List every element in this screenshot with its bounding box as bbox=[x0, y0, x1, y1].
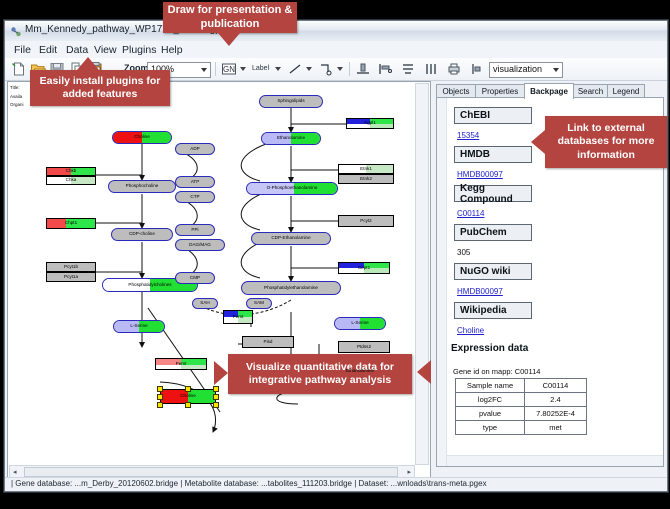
node-label: Ptdss2 bbox=[357, 345, 371, 350]
node-label: L-Serine bbox=[351, 321, 368, 326]
expression-table: Sample name C00114 log2FC 2.4 pvalue 7.8… bbox=[455, 378, 587, 435]
visualization-icon[interactable] bbox=[469, 61, 485, 77]
scroll-right-arrow-icon[interactable]: ▸ bbox=[407, 468, 411, 476]
table-row: Sample name C00114 bbox=[456, 379, 587, 393]
node-label: Chkb bbox=[66, 169, 77, 174]
node-label: SAH bbox=[200, 301, 209, 306]
node-ppi[interactable]: PPi bbox=[175, 224, 215, 236]
node-label: CDP-Ethanolamine bbox=[271, 236, 310, 241]
node-etnk1[interactable]: Etnk1 bbox=[338, 164, 394, 174]
selection-handle-ne[interactable] bbox=[213, 386, 219, 392]
callout-visualize-arrow-icon bbox=[214, 361, 228, 385]
node-phosphocholine[interactable]: Phosphocholine bbox=[108, 180, 176, 193]
cell-value: C00114 bbox=[525, 379, 587, 393]
node-label: Phosphocholine bbox=[126, 184, 159, 189]
node-adp[interactable]: ADP bbox=[175, 143, 215, 155]
cell-value: 2.4 bbox=[525, 393, 587, 407]
node-sam[interactable]: SAM bbox=[246, 298, 272, 309]
cell-key: Sample name bbox=[456, 379, 525, 393]
toolbar-separator bbox=[215, 62, 216, 76]
tab-properties[interactable]: Properties bbox=[475, 84, 525, 98]
backpage-horizontal-scrollbar[interactable] bbox=[447, 455, 663, 466]
db-link-wikipedia[interactable]: Choline bbox=[457, 326, 484, 335]
node-label: Chpt1 bbox=[65, 221, 77, 226]
menu-help[interactable]: Help bbox=[157, 43, 187, 57]
screenshot-root: Mm_Kennedy_pathway_WP1771_45176.gpml Fil… bbox=[0, 0, 670, 509]
node-label: Pcyt2 bbox=[360, 219, 372, 224]
cell-key: log2FC bbox=[456, 393, 525, 407]
toolbar-separator-2 bbox=[349, 62, 350, 76]
node-l-serine-1[interactable]: L-Serine bbox=[113, 320, 165, 333]
db-link-kegg[interactable]: C00114 bbox=[457, 209, 484, 218]
node-pcyt1b[interactable]: Pcyt1b bbox=[46, 262, 96, 272]
status-bar: | Gene database: ...m_Derby_20120602.bri… bbox=[5, 477, 667, 491]
db-value-pubchem: 305 bbox=[457, 248, 470, 257]
node-cdp-choline[interactable]: CDP-choline bbox=[111, 228, 173, 241]
node-ethanolamine[interactable]: Ethanolamine bbox=[261, 132, 321, 145]
node-pisd[interactable]: Pisd bbox=[242, 336, 294, 348]
line-icon[interactable] bbox=[287, 61, 303, 77]
pathway-organism-label: Organi bbox=[10, 101, 24, 110]
node-label: SAM bbox=[254, 301, 264, 306]
node-label: ATP bbox=[191, 180, 200, 185]
selection-handle-sw[interactable] bbox=[157, 402, 163, 408]
node-label: Pisd bbox=[264, 340, 273, 345]
chevron-down-icon-2 bbox=[553, 68, 559, 72]
node-o-phosphoethanolamine[interactable]: O-Phosphoethanolamine bbox=[246, 182, 338, 195]
node-chpt1[interactable]: Chpt1 bbox=[46, 218, 96, 229]
node-label: CTP bbox=[190, 195, 199, 200]
menu-file[interactable]: File bbox=[10, 43, 35, 57]
node-label: Pcyt1b bbox=[64, 265, 78, 270]
node-atp[interactable]: ATP bbox=[175, 176, 215, 188]
db-header-pubchem: PubChem bbox=[454, 224, 532, 241]
db-header-nugo: NuGO wiki bbox=[454, 263, 532, 280]
new-file-icon[interactable] bbox=[11, 61, 27, 77]
status-text: | Gene database: ...m_Derby_20120602.bri… bbox=[11, 479, 487, 488]
table-row: log2FC 2.4 bbox=[456, 393, 587, 407]
cell-value: met bbox=[525, 421, 587, 435]
callout-plugins-arrow-icon bbox=[77, 57, 99, 70]
side-tabs: Objects Properties Backpage Search Legen… bbox=[436, 83, 662, 97]
db-header-wikipedia: Wikipedia bbox=[454, 302, 532, 319]
node-cdp-ethanolamine[interactable]: CDP-Ethanolamine bbox=[251, 232, 331, 245]
menu-plugins[interactable]: Plugins bbox=[118, 43, 160, 57]
tab-objects[interactable]: Objects bbox=[436, 84, 476, 98]
node-dagmag[interactable]: DAG/MAG bbox=[175, 239, 225, 251]
node-label: Choline bbox=[134, 135, 150, 140]
pathway-canvas[interactable]: Title: Availa Organi bbox=[7, 81, 431, 481]
pathway-info-block: Title: Availa Organi bbox=[10, 84, 24, 110]
scroll-thumb[interactable] bbox=[24, 467, 398, 477]
callout-links: Link to external databases for more info… bbox=[545, 116, 667, 168]
node-pemt-upper[interactable]: Pemt bbox=[223, 310, 253, 324]
node-label: Ethanolamine bbox=[346, 369, 374, 374]
datanode-dropdown-icon[interactable] bbox=[240, 67, 246, 71]
label-tool-label: Label bbox=[252, 65, 269, 72]
node-ptdss2[interactable]: Ptdss2 bbox=[338, 341, 390, 353]
node-label: Chka bbox=[66, 178, 77, 183]
cell-key: pvalue bbox=[456, 407, 525, 421]
chevron-down-icon bbox=[201, 68, 207, 72]
stack-icon[interactable] bbox=[400, 61, 416, 77]
tab-search[interactable]: Search bbox=[573, 84, 608, 98]
node-sgpl1[interactable]: Sgpl1 bbox=[346, 118, 394, 129]
pathway-available-label: Availa bbox=[10, 93, 24, 102]
selection-handle-s[interactable] bbox=[185, 402, 191, 408]
canvas-vertical-scrollbar[interactable] bbox=[415, 83, 429, 465]
node-ctp[interactable]: CTP bbox=[175, 191, 215, 203]
node-label: ADP bbox=[190, 147, 199, 152]
node-label: Phosphatidylethanolamine bbox=[264, 286, 318, 291]
db-header-kegg: Kegg Compound bbox=[454, 185, 532, 202]
menu-edit[interactable]: Edit bbox=[35, 43, 61, 57]
db-header-chebi: ChEBI bbox=[454, 107, 532, 124]
svg-text:GN: GN bbox=[223, 65, 235, 74]
db-header-hmdb: HMDB bbox=[454, 146, 532, 163]
line-dropdown-icon[interactable] bbox=[306, 67, 312, 71]
callout-draw: Draw for presentation & publication bbox=[163, 2, 297, 33]
node-label: DAG/MAG bbox=[189, 243, 211, 248]
node-label: CMP bbox=[190, 276, 200, 281]
db-link-chebi[interactable]: 15354 bbox=[457, 131, 479, 140]
node-pcyt1a[interactable]: Pcyt1a bbox=[46, 272, 96, 282]
node-label: Ethanolamine bbox=[277, 136, 305, 141]
node-label: O-Phosphoethanolamine bbox=[267, 186, 318, 191]
menu-data[interactable]: Data bbox=[62, 43, 92, 57]
callout-visualize: Visualize quantitative data for integrat… bbox=[228, 354, 412, 394]
distribute-icon[interactable] bbox=[423, 61, 439, 77]
visualization-combo[interactable]: visualization bbox=[489, 62, 563, 78]
node-label: Pemt bbox=[233, 315, 244, 320]
selection-handle-e[interactable] bbox=[213, 394, 219, 400]
pathway-title-label: Title: bbox=[10, 84, 24, 93]
gene-id-line: Gene id on mapp: C00114 bbox=[453, 367, 540, 376]
selection-handle-w[interactable] bbox=[157, 394, 163, 400]
node-label: Sgpl1 bbox=[364, 121, 376, 126]
app-icon bbox=[10, 25, 22, 37]
node-chka[interactable]: Chka bbox=[46, 176, 96, 185]
cell-value: 7.80252E-4 bbox=[525, 407, 587, 421]
node-label: CDP-choline bbox=[129, 232, 155, 237]
interaction-dropdown-icon[interactable] bbox=[337, 67, 343, 71]
node-sphingolipids[interactable]: Sphingolipids bbox=[259, 95, 323, 108]
label-dropdown-icon[interactable] bbox=[275, 67, 281, 71]
table-row: type met bbox=[456, 421, 587, 435]
node-label: L-Serine bbox=[130, 324, 147, 329]
node-cept1[interactable]: Cept1 bbox=[338, 262, 390, 274]
callout-links-arrow-icon-2 bbox=[417, 360, 431, 384]
node-sah[interactable]: SAH bbox=[192, 298, 218, 309]
db-link-hmdb[interactable]: HMDB00097 bbox=[457, 170, 503, 179]
node-label: Pcyt1a bbox=[64, 275, 78, 280]
table-row: pvalue 7.80252E-4 bbox=[456, 407, 587, 421]
node-label: Phosphatidylcholines bbox=[128, 283, 171, 288]
node-label: PPi bbox=[191, 228, 198, 233]
backpage-vertical-scrollbar[interactable] bbox=[437, 98, 447, 466]
cell-key: type bbox=[456, 421, 525, 435]
callout-links-arrow-icon bbox=[531, 130, 545, 154]
align-top-icon[interactable] bbox=[355, 61, 371, 77]
node-label: Etnk2 bbox=[360, 177, 372, 182]
node-label: Cept1 bbox=[358, 266, 370, 271]
node-pcyt2[interactable]: Pcyt2 bbox=[338, 215, 394, 227]
visualization-value: visualization bbox=[493, 64, 542, 74]
menu-view[interactable]: View bbox=[90, 43, 121, 57]
window-titlebar: Mm_Kennedy_pathway_WP1771_45176.gpml bbox=[5, 21, 667, 42]
align-left-icon[interactable] bbox=[377, 61, 393, 77]
selection-handle-nw[interactable] bbox=[157, 386, 163, 392]
node-pemt-lower[interactable]: Pemt bbox=[155, 358, 207, 370]
scroll-left-arrow-icon[interactable]: ◂ bbox=[13, 468, 17, 476]
node-etnk2[interactable]: Etnk2 bbox=[338, 174, 394, 184]
node-cmp[interactable]: CMP bbox=[175, 272, 215, 284]
node-phosphatidylethanolamine[interactable]: Phosphatidylethanolamine bbox=[241, 281, 341, 295]
tab-legend[interactable]: Legend bbox=[607, 84, 645, 98]
node-choline-top[interactable]: Choline bbox=[112, 131, 172, 144]
node-label: Choline bbox=[180, 394, 196, 399]
node-label: Etnk1 bbox=[360, 167, 372, 172]
node-chkb[interactable]: Chkb bbox=[46, 167, 96, 176]
datanode-icon[interactable]: GN bbox=[221, 61, 237, 77]
callout-plugins: Easily install plugins for added feature… bbox=[30, 70, 170, 106]
node-l-serine-2[interactable]: L-Serine bbox=[334, 317, 386, 330]
node-label: Sphingolipids bbox=[277, 99, 304, 104]
callout-draw-arrow-icon bbox=[218, 33, 240, 46]
selection-handle-n[interactable] bbox=[185, 386, 191, 392]
tab-backpage[interactable]: Backpage bbox=[524, 83, 574, 99]
selection-handle-se[interactable] bbox=[213, 402, 219, 408]
expression-data-heading: Expression data bbox=[451, 343, 528, 354]
node-label: Pemt bbox=[176, 362, 187, 367]
db-link-nugo[interactable]: HMDB00097 bbox=[457, 287, 503, 296]
interaction-icon[interactable] bbox=[318, 61, 334, 77]
menu-bar: File Edit Data View Plugins Help bbox=[5, 41, 667, 59]
print-icon[interactable] bbox=[446, 61, 462, 77]
